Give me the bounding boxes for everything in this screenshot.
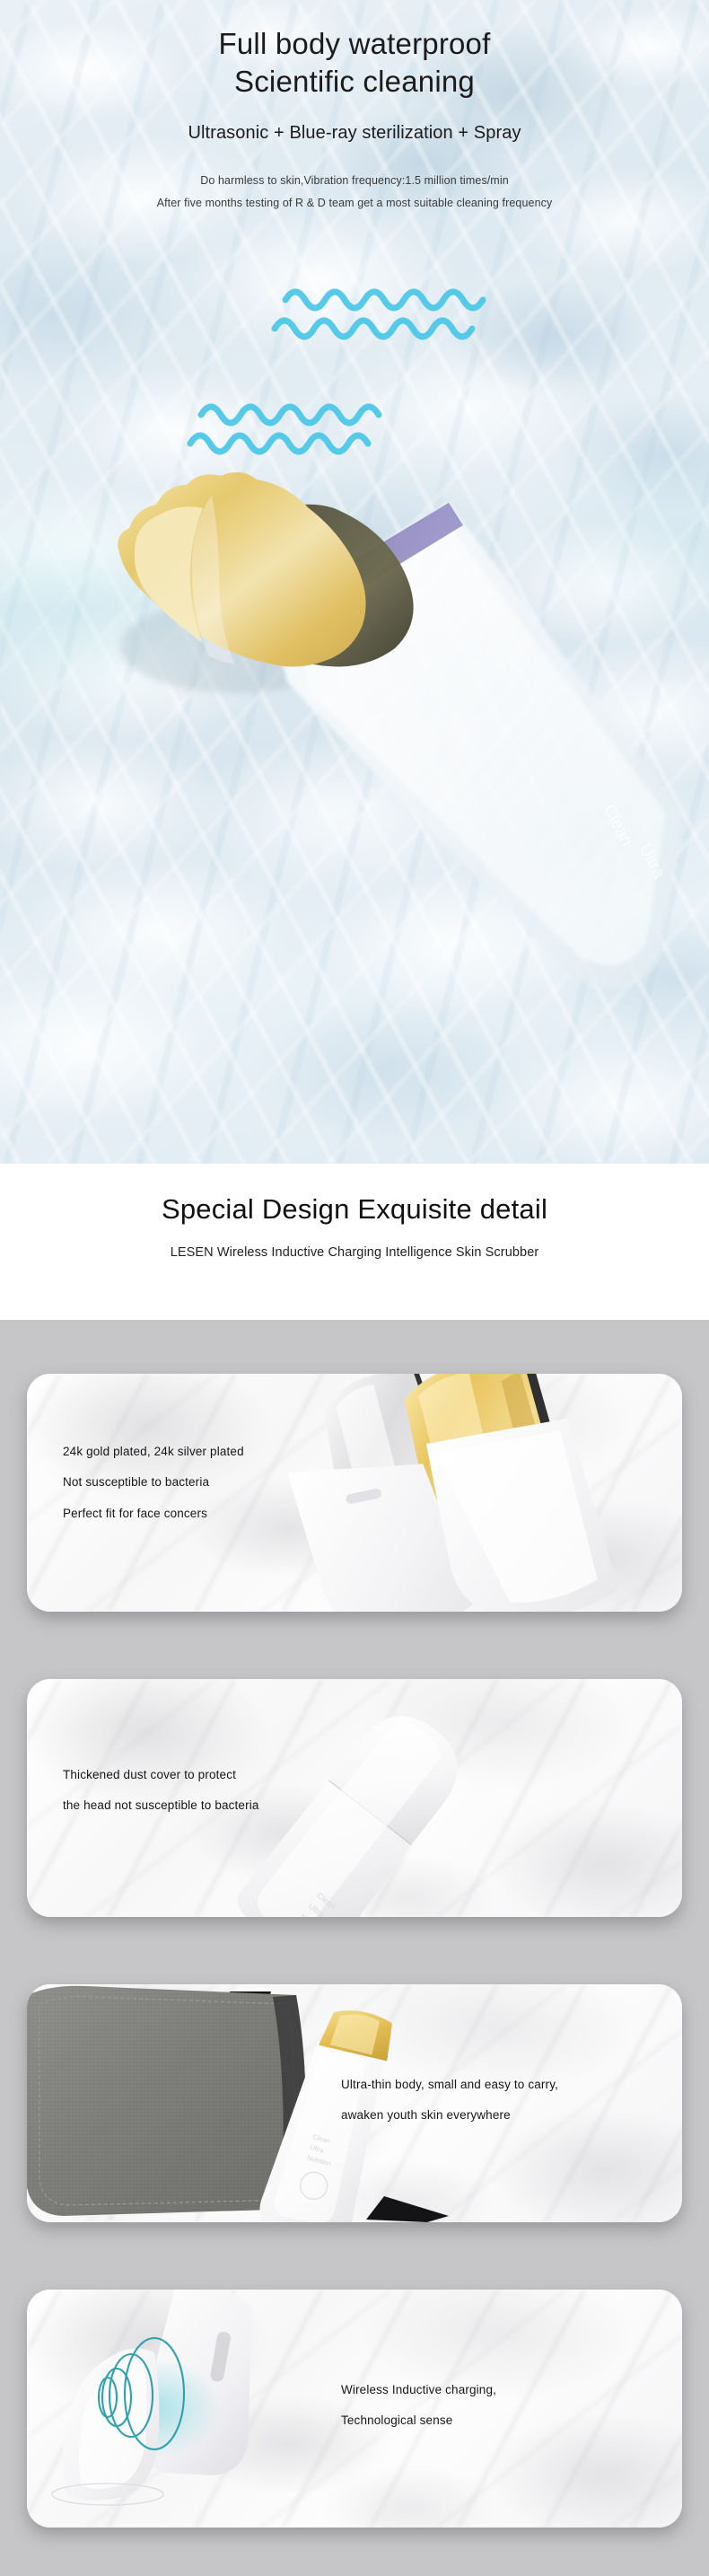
hero-note: Do harmless to skin,Vibration frequency:… <box>0 170 709 215</box>
hero-note-line-2: After five months testing of R & D team … <box>0 192 709 215</box>
card-2-text: Thickened dust cover to protect the head… <box>63 1760 259 1822</box>
hero-copy-block: Full body waterproof Scientific cleaning… <box>0 0 709 215</box>
card-1-line-3: Perfect fit for face concers <box>63 1499 244 1529</box>
card-2-line-1: Thickened dust cover to protect <box>63 1760 259 1790</box>
feature-card-gold-silver-plated: 24k gold plated, 24k silver plated Not s… <box>27 1374 682 1612</box>
card-4-text: Wireless Inductive charging, Technologic… <box>341 2375 496 2437</box>
card-1-text: 24k gold plated, 24k silver plated Not s… <box>63 1437 244 1529</box>
card-3-text: Ultra-thin body, small and easy to carry… <box>341 2070 558 2132</box>
card-3-line-1: Ultra-thin body, small and easy to carry… <box>341 2070 558 2100</box>
hero-title-line-2: Scientific cleaning <box>0 63 709 101</box>
section-title: Special Design Exquisite detail <box>0 1164 709 1226</box>
feature-card-wireless-charging: Wireless Inductive charging, Technologic… <box>27 2290 682 2528</box>
card-2-line-2: the head not susceptible to bacteria <box>63 1790 259 1821</box>
card-1-line-1: 24k gold plated, 24k silver plated <box>63 1437 244 1467</box>
hero-banner: Clean Ultra Full body waterproof Scienti… <box>0 0 709 1164</box>
card-4-line-1: Wireless Inductive charging, <box>341 2375 496 2405</box>
card-1-line-2: Not susceptible to bacteria <box>63 1467 244 1498</box>
card-3-line-2: awaken youth skin everywhere <box>341 2100 558 2131</box>
section-subtitle: LESEN Wireless Inductive Charging Intell… <box>0 1245 709 1260</box>
feature-card-ultra-thin-portable: Clean Ultra Nutrition Ultra-thin body, s… <box>27 1984 682 2222</box>
feature-card-dust-cover: Clean Ultra Nutrition Thickened dust cov… <box>27 1679 682 1917</box>
card-4-line-2: Technological sense <box>341 2405 496 2436</box>
hero-title: Full body waterproof Scientific cleaning <box>0 25 709 101</box>
hero-title-line-1: Full body waterproof <box>0 25 709 63</box>
section-title-band: Special Design Exquisite detail LESEN Wi… <box>0 1164 709 1320</box>
feature-cards-section: 24k gold plated, 24k silver plated Not s… <box>0 1320 709 2576</box>
hero-note-line-1: Do harmless to skin,Vibration frequency:… <box>0 170 709 192</box>
hero-subtitle: Ultrasonic + Blue-ray sterilization + Sp… <box>0 123 709 144</box>
